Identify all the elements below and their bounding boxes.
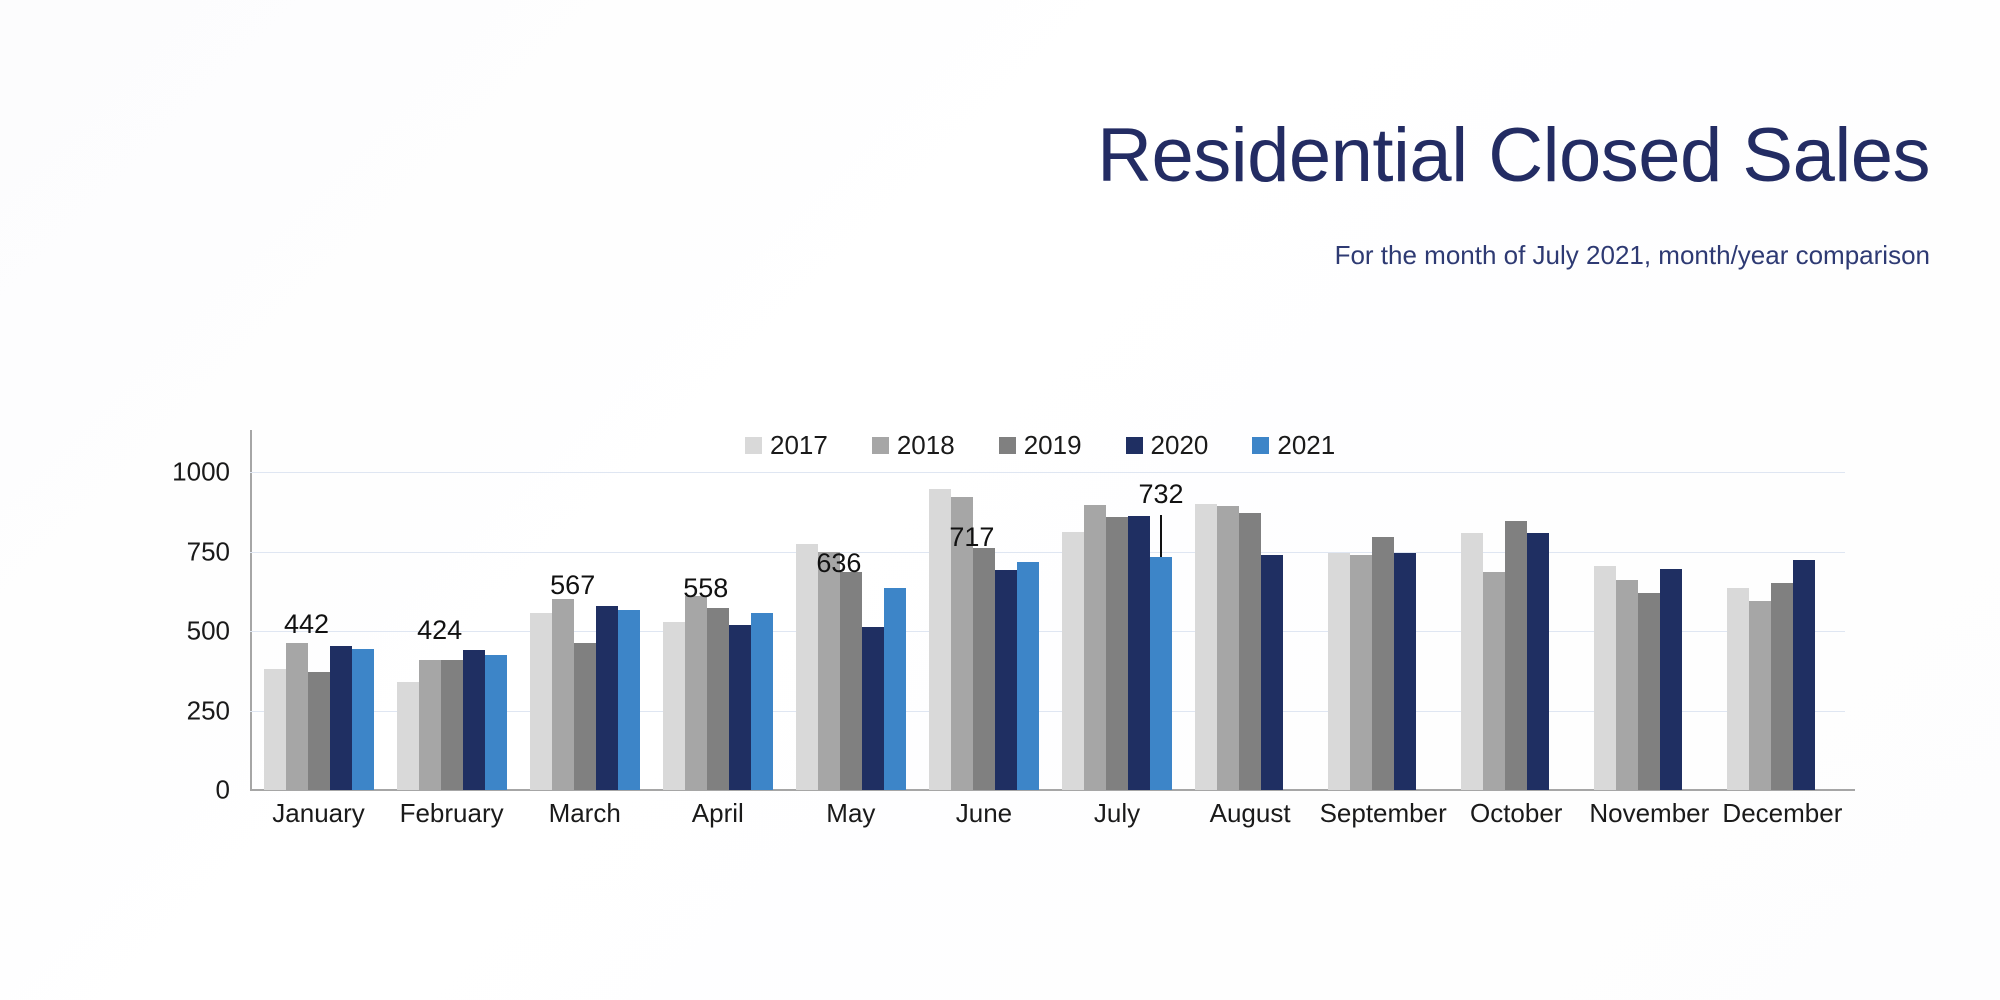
bar-july-2017[interactable] (1062, 532, 1084, 790)
bar-group-november (1583, 472, 1716, 790)
data-label-march: 567 (550, 570, 595, 601)
x-axis-label-september: September (1317, 798, 1450, 829)
bar-july-2021[interactable] (1150, 557, 1172, 790)
bar-may-2017[interactable] (796, 544, 818, 790)
bar-february-2020[interactable] (463, 650, 485, 790)
bar-slot (330, 472, 352, 790)
bar-june-2020[interactable] (995, 570, 1017, 790)
bar-slot (352, 472, 374, 790)
bar-slot (596, 472, 618, 790)
legend-swatch-icon (999, 437, 1016, 454)
bar-slot (751, 472, 773, 790)
bar-slot (1062, 472, 1084, 790)
bar-slot (796, 472, 818, 790)
bar-slot (1660, 472, 1682, 790)
bar-group-december (1716, 472, 1849, 790)
bar-november-2020[interactable] (1660, 569, 1682, 790)
bar-slot (264, 472, 286, 790)
x-axis-label-february: February (385, 798, 518, 829)
bar-june-2019[interactable] (973, 548, 995, 790)
bar-december-2018[interactable] (1749, 601, 1771, 790)
y-axis-tick-label: 500 (110, 616, 230, 647)
bar-january-2017[interactable] (264, 669, 286, 790)
bar-july-2020[interactable] (1128, 516, 1150, 790)
bar-slot (663, 472, 685, 790)
bar-slot (1283, 472, 1305, 790)
bar-september-2019[interactable] (1372, 537, 1394, 790)
bar-slot (397, 472, 419, 790)
bar-slot (929, 472, 951, 790)
bar-october-2020[interactable] (1527, 533, 1549, 790)
bar-september-2018[interactable] (1350, 555, 1372, 790)
legend-label: 2018 (897, 430, 955, 461)
slide-canvas: Residential Closed Sales For the month o… (0, 0, 2000, 1000)
bar-slot (1527, 472, 1549, 790)
bar-slot (995, 472, 1017, 790)
bar-slot (1549, 472, 1571, 790)
bar-slot (463, 472, 485, 790)
data-label-july: 732 (1138, 479, 1183, 510)
legend-item-2017[interactable]: 2017 (745, 430, 828, 461)
bar-slot (862, 472, 884, 790)
x-axis-label-october: October (1450, 798, 1583, 829)
bar-slot (818, 472, 840, 790)
bar-slot (1815, 472, 1837, 790)
bar-slot (1017, 472, 1039, 790)
bar-slot (1793, 472, 1815, 790)
legend-item-2021[interactable]: 2021 (1252, 430, 1335, 461)
bar-february-2021[interactable] (485, 655, 507, 790)
bar-slot (1328, 472, 1350, 790)
bar-group-july: 732 (1050, 472, 1183, 790)
bar-slot (485, 472, 507, 790)
x-axis-label-march: March (518, 798, 651, 829)
x-axis-label-january: January (252, 798, 385, 829)
bar-chart: 20172018201920202021 02505007501000 4424… (155, 430, 1855, 830)
bar-slot (1416, 472, 1438, 790)
data-label-leader-line (1160, 515, 1162, 557)
bar-may-2021[interactable] (884, 588, 906, 790)
legend-swatch-icon (1252, 437, 1269, 454)
bar-march-2017[interactable] (530, 613, 552, 790)
bar-march-2018[interactable] (552, 599, 574, 790)
bar-slot (1483, 472, 1505, 790)
bar-slot (884, 472, 906, 790)
y-axis-tick-label: 750 (110, 536, 230, 567)
bar-february-2019[interactable] (441, 660, 463, 790)
bar-december-2017[interactable] (1727, 588, 1749, 790)
bar-slot (1682, 472, 1704, 790)
bar-may-2019[interactable] (840, 572, 862, 790)
bar-november-2017[interactable] (1594, 566, 1616, 791)
bar-group-june: 717 (917, 472, 1050, 790)
bar-august-2017[interactable] (1195, 504, 1217, 790)
bar-january-2018[interactable] (286, 643, 308, 790)
bar-july-2019[interactable] (1106, 517, 1128, 790)
legend-swatch-icon (745, 437, 762, 454)
bar-october-2018[interactable] (1483, 572, 1505, 790)
bar-july-2018[interactable] (1084, 505, 1106, 790)
bar-slot (685, 472, 707, 790)
bar-slot (1261, 472, 1283, 790)
bar-slot (1616, 472, 1638, 790)
bar-march-2019[interactable] (574, 643, 596, 790)
bar-group-may: 636 (784, 472, 917, 790)
bar-june-2021[interactable] (1017, 562, 1039, 790)
legend-swatch-icon (1126, 437, 1143, 454)
data-label-june: 717 (949, 522, 994, 553)
bar-slot (1217, 472, 1239, 790)
bar-december-2020[interactable] (1793, 560, 1815, 790)
bar-august-2020[interactable] (1261, 555, 1283, 790)
legend-label: 2020 (1151, 430, 1209, 461)
bar-may-2018[interactable] (818, 552, 840, 790)
bar-august-2019[interactable] (1239, 513, 1261, 790)
bar-slot (1106, 472, 1128, 790)
bar-august-2018[interactable] (1217, 506, 1239, 790)
chart-legend: 20172018201920202021 (745, 430, 1335, 461)
y-axis-tick-label: 1000 (110, 457, 230, 488)
bar-slot (951, 472, 973, 790)
bar-february-2018[interactable] (419, 660, 441, 790)
bar-slot (1195, 472, 1217, 790)
legend-item-2020[interactable]: 2020 (1126, 430, 1209, 461)
bar-slot (1461, 472, 1483, 790)
bar-september-2017[interactable] (1328, 553, 1350, 790)
legend-item-2018[interactable]: 2018 (872, 430, 955, 461)
bar-slot (530, 472, 552, 790)
x-axis-label-november: November (1583, 798, 1716, 829)
bar-slot (574, 472, 596, 790)
x-axis-label-july: July (1050, 798, 1183, 829)
bar-slot (618, 472, 640, 790)
bar-group-october (1450, 472, 1583, 790)
bar-slot (1727, 472, 1749, 790)
bar-may-2020[interactable] (862, 627, 884, 790)
bar-group-january: 442 (252, 472, 385, 790)
bar-slot (1084, 472, 1106, 790)
x-axis-label-december: December (1716, 798, 1849, 829)
bar-february-2017[interactable] (397, 682, 419, 790)
data-label-april: 558 (683, 573, 728, 604)
data-label-february: 424 (417, 615, 462, 646)
bar-june-2017[interactable] (929, 489, 951, 790)
gridline (250, 790, 1845, 791)
bar-march-2021[interactable] (618, 610, 640, 790)
bar-march-2020[interactable] (596, 606, 618, 790)
legend-item-2019[interactable]: 2019 (999, 430, 1082, 461)
bar-slot (1749, 472, 1771, 790)
bar-january-2020[interactable] (330, 646, 352, 790)
bar-december-2019[interactable] (1771, 583, 1793, 790)
bar-slot (1394, 472, 1416, 790)
bar-november-2019[interactable] (1638, 593, 1660, 790)
bar-slot (1372, 472, 1394, 790)
bar-slot (1638, 472, 1660, 790)
y-axis-tick-label: 0 (110, 775, 230, 806)
x-axis-labels: JanuaryFebruaryMarchAprilMayJuneJulyAugu… (252, 798, 1849, 829)
legend-label: 2021 (1277, 430, 1335, 461)
bar-april-2017[interactable] (663, 622, 685, 790)
bar-slot (1350, 472, 1372, 790)
bar-groups: 442424567558636717732 (252, 472, 1849, 790)
page-subtitle: For the month of July 2021, month/year c… (1335, 240, 1930, 271)
bar-april-2021[interactable] (751, 613, 773, 790)
bar-april-2018[interactable] (685, 596, 707, 790)
x-axis-label-april: April (651, 798, 784, 829)
legend-label: 2017 (770, 430, 828, 461)
bar-slot (707, 472, 729, 790)
bar-slot (1771, 472, 1793, 790)
bar-january-2019[interactable] (308, 672, 330, 790)
bar-october-2017[interactable] (1461, 533, 1483, 790)
bar-group-march: 567 (518, 472, 651, 790)
legend-swatch-icon (872, 437, 889, 454)
y-axis-tick-label: 250 (110, 695, 230, 726)
bar-slot (973, 472, 995, 790)
bar-slot (1505, 472, 1527, 790)
bar-slot (1239, 472, 1261, 790)
x-axis-label-august: August (1184, 798, 1317, 829)
x-axis-label-june: June (917, 798, 1050, 829)
bar-group-april: 558 (651, 472, 784, 790)
bar-slot (1594, 472, 1616, 790)
bar-april-2020[interactable] (729, 625, 751, 790)
bar-group-august (1184, 472, 1317, 790)
bar-january-2021[interactable] (352, 649, 374, 790)
bar-april-2019[interactable] (707, 608, 729, 790)
page-title: Residential Closed Sales (1097, 118, 1930, 194)
bar-slot (840, 472, 862, 790)
bar-slot (552, 472, 574, 790)
bar-october-2019[interactable] (1505, 521, 1527, 790)
bar-group-september (1317, 472, 1450, 790)
x-axis-label-may: May (784, 798, 917, 829)
bar-september-2020[interactable] (1394, 553, 1416, 790)
bar-november-2018[interactable] (1616, 580, 1638, 790)
bar-slot (1128, 472, 1150, 790)
bar-group-february: 424 (385, 472, 518, 790)
data-label-january: 442 (284, 609, 329, 640)
data-label-may: 636 (816, 548, 861, 579)
bar-slot (729, 472, 751, 790)
legend-label: 2019 (1024, 430, 1082, 461)
